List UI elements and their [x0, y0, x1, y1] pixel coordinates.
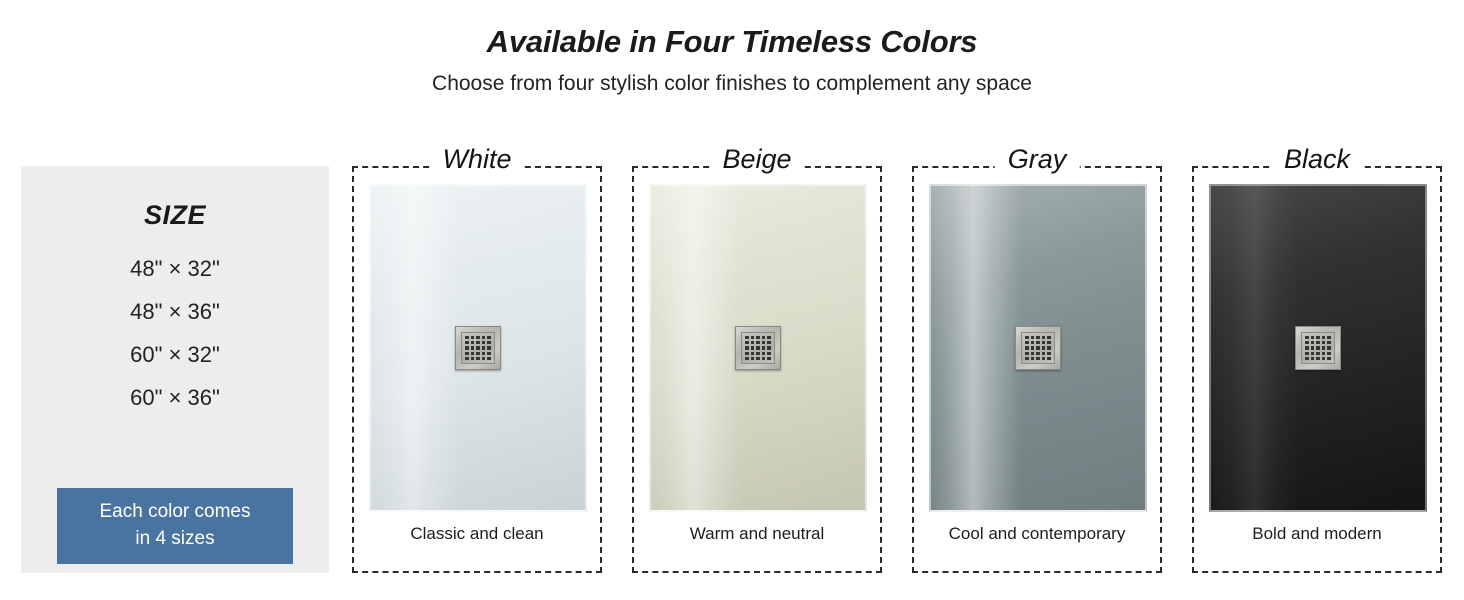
color-card-caption: Bold and modern	[1198, 523, 1436, 545]
drain-slot-grid	[741, 332, 775, 364]
drain-slot-grid	[461, 332, 495, 364]
color-card-image-black	[1209, 184, 1427, 512]
page-subtitle: Choose from four stylish color finishes …	[0, 70, 1464, 98]
size-list-item: 48" × 32"	[130, 256, 220, 282]
size-list-item: 60" × 32"	[130, 342, 220, 368]
color-card-label: Gray	[995, 143, 1080, 175]
color-card-label: Beige	[709, 143, 804, 175]
color-card-white[interactable]: White	[352, 166, 602, 573]
color-card-label: White	[429, 143, 524, 175]
color-card-gray[interactable]: Gray	[912, 166, 1162, 573]
size-badge-line-1: Each color comes	[63, 498, 287, 525]
drain-slot-grid	[1301, 332, 1335, 364]
color-card-label: Black	[1271, 143, 1363, 175]
shower-tray-image	[1209, 184, 1427, 512]
square-drain-grate-icon	[1015, 326, 1061, 370]
header: Available in Four Timeless Colors Choose…	[0, 22, 1464, 98]
color-options-infographic: Available in Four Timeless Colors Choose…	[0, 0, 1464, 600]
shower-tray-image	[929, 184, 1147, 512]
page-title: Available in Four Timeless Colors	[0, 22, 1464, 62]
color-card-caption: Warm and neutral	[638, 523, 876, 545]
drain-slot-grid	[1021, 332, 1055, 364]
size-panel-heading: SIZE	[21, 199, 329, 231]
size-panel: SIZE 48" × 32" 48" × 36" 60" × 32" 60" ×…	[21, 166, 329, 573]
color-card-image-beige	[649, 184, 867, 512]
shower-tray-image	[369, 184, 587, 512]
color-card-black[interactable]: Black	[1192, 166, 1442, 573]
size-list: 48" × 32" 48" × 36" 60" × 32" 60" × 36"	[21, 256, 329, 411]
size-badge: Each color comes in 4 sizes	[57, 488, 293, 564]
square-drain-grate-icon	[455, 326, 501, 370]
size-list-item: 60" × 36"	[130, 385, 220, 411]
square-drain-grate-icon	[1295, 326, 1341, 370]
color-card-list: White	[352, 166, 1442, 573]
square-drain-grate-icon	[735, 326, 781, 370]
color-card-image-white	[369, 184, 587, 512]
size-list-item: 48" × 36"	[130, 299, 220, 325]
shower-tray-image	[649, 184, 867, 512]
color-card-caption: Classic and clean	[358, 523, 596, 545]
size-badge-line-2: in 4 sizes	[63, 525, 287, 552]
color-card-beige[interactable]: Beige	[632, 166, 882, 573]
color-card-caption: Cool and contemporary	[918, 523, 1156, 545]
color-card-image-gray	[929, 184, 1147, 512]
